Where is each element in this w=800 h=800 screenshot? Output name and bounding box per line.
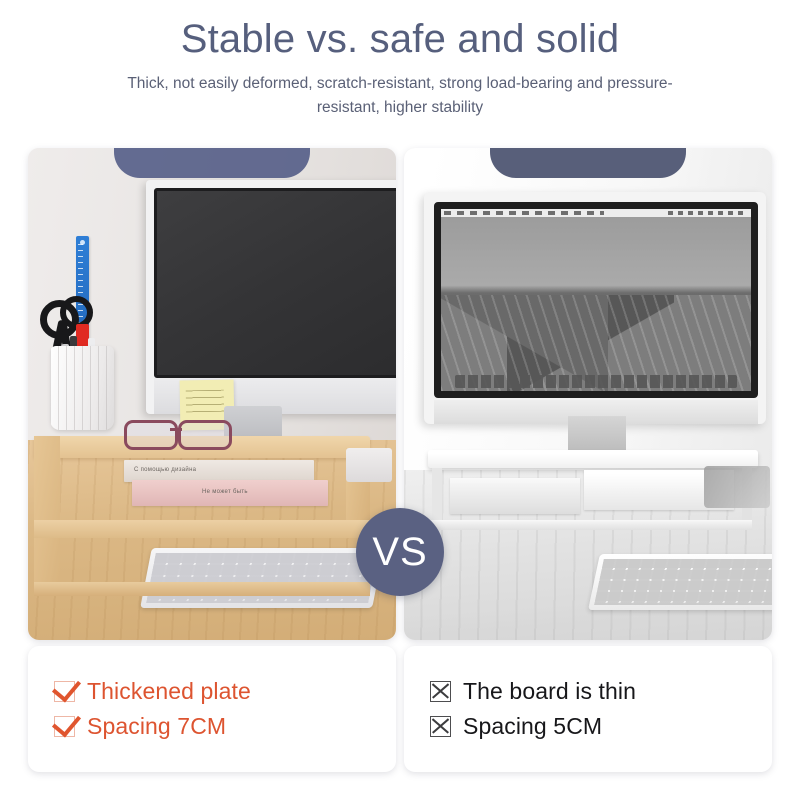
book-left <box>450 478 580 514</box>
left-photo-card: С помощью дизайна Не может быть 7CM <box>28 148 396 640</box>
side-tray <box>346 448 392 482</box>
feature-label: Spacing 5CM <box>463 714 602 739</box>
macos-menubar <box>441 209 751 217</box>
keyboard <box>140 548 384 608</box>
checkbox-crossed-icon <box>430 681 451 702</box>
feature-label: The board is thin <box>463 679 636 704</box>
macos-dock <box>455 375 737 388</box>
list-item: Spacing 7CM <box>54 714 396 739</box>
right-panel: 5CM Regular style The board is thin Spac… <box>404 148 772 772</box>
checkbox-crossed-icon <box>430 716 451 737</box>
monitor-screen <box>154 188 396 378</box>
vs-badge-label: VS <box>372 532 427 572</box>
imac-monitor <box>424 192 766 424</box>
left-feature-card: Thickened plate Spacing 7CM <box>28 646 396 772</box>
header: Stable vs. safe and solid Thick, not eas… <box>0 0 800 120</box>
right-feature-card: The board is thin Spacing 5CM <box>404 646 772 772</box>
infographic-page: Stable vs. safe and solid Thick, not eas… <box>0 0 800 800</box>
monitor-screen <box>434 202 758 398</box>
right-photo-card: 5CM Regular style <box>404 148 772 640</box>
left-photo-scene: С помощью дизайна Не может быть <box>28 148 396 640</box>
imac-monitor <box>146 180 396 414</box>
eyeglasses <box>124 420 240 446</box>
right-photo-scene <box>404 148 772 640</box>
right-banner: Regular style <box>490 148 686 178</box>
book-pink: Не может быть <box>132 480 328 506</box>
list-item: Thickened plate <box>54 679 396 704</box>
page-subtitle: Thick, not easily deformed, scratch-resi… <box>110 72 690 120</box>
cable-bundle <box>704 466 770 508</box>
book-title-2: Не может быть <box>202 489 248 495</box>
checkbox-checked-icon <box>54 716 75 737</box>
page-title: Stable vs. safe and solid <box>0 16 800 62</box>
book-white: С помощью дизайна <box>124 460 314 482</box>
left-banner: Upgraded model <box>114 148 310 178</box>
stand-left-leg <box>432 468 442 526</box>
right-banner-label: Regular style <box>543 148 633 178</box>
stand-left-side <box>34 436 60 596</box>
book-title-1: С помощью дизайна <box>134 467 196 473</box>
stand-bottom-edge <box>428 520 752 530</box>
left-banner-label: Upgraded model <box>155 148 269 178</box>
stand-middle-shelf <box>34 520 370 538</box>
list-item: The board is thin <box>430 679 772 704</box>
checkbox-checked-icon <box>54 681 75 702</box>
stand-bottom-edge <box>34 582 370 596</box>
feature-label: Thickened plate <box>87 679 251 704</box>
keyboard <box>588 554 772 610</box>
list-item: Spacing 5CM <box>430 714 772 739</box>
left-panel: С помощью дизайна Не может быть 7CM <box>28 148 396 772</box>
vs-badge: VS <box>356 508 444 596</box>
feature-label: Spacing 7CM <box>87 714 226 739</box>
comparison-container: С помощью дизайна Не может быть 7CM <box>28 148 772 772</box>
pen-holder <box>50 346 114 430</box>
